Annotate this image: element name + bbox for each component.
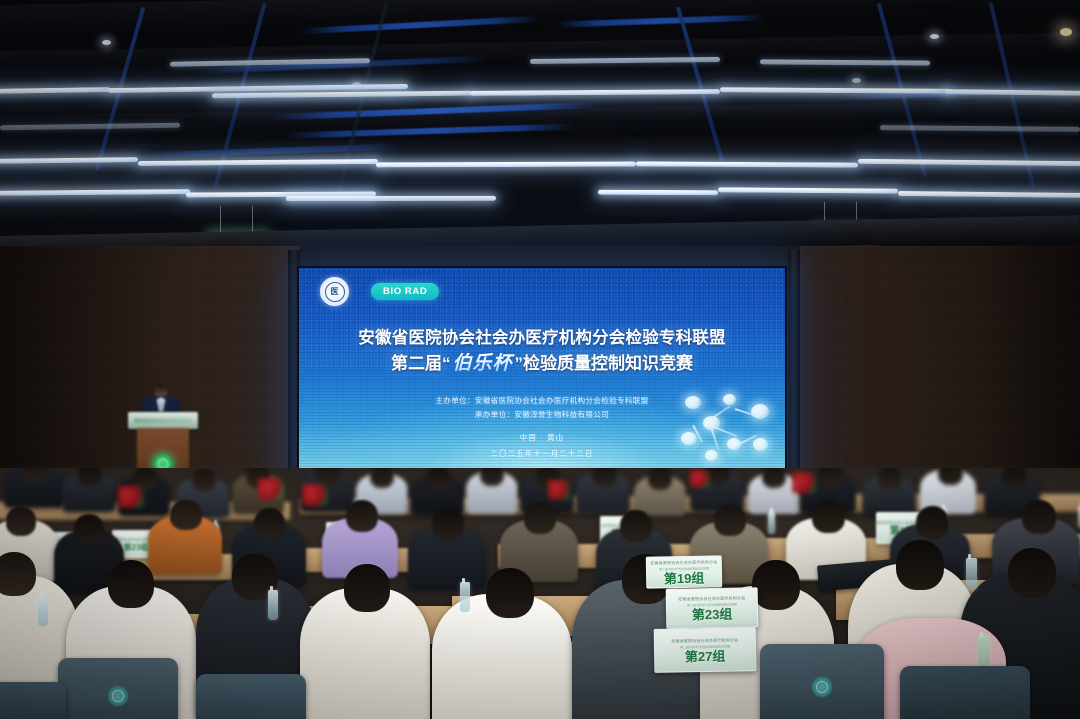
bio-rad-logo: BIO RAD	[371, 283, 439, 300]
audience-person-head	[818, 468, 843, 487]
ceiling-spotlight	[930, 34, 939, 39]
ceiling-led-strip	[720, 87, 950, 94]
screen-logo-row: 医 BIO RAD	[320, 277, 439, 306]
audience-person-head	[592, 468, 617, 487]
ceiling-led-strip	[376, 162, 636, 168]
audience-person-head	[0, 552, 36, 596]
audience-chair	[0, 682, 66, 719]
water-bottle	[966, 558, 977, 590]
screen-title-suffix: 检验质量控制知识竞赛	[523, 354, 693, 373]
audience-person-head	[192, 468, 216, 492]
ceiling-spotlight	[352, 82, 361, 87]
sign-number-text: 第23组	[124, 544, 149, 552]
audience-person-head	[752, 560, 800, 610]
water-bottle	[978, 636, 990, 670]
audience-person-head	[344, 564, 390, 612]
water-bottle	[460, 582, 470, 612]
flower-arrangement	[548, 480, 570, 500]
audience-person-head	[1008, 548, 1056, 598]
ceiling-slab	[0, 0, 1080, 40]
flower-arrangement	[690, 470, 710, 488]
ceiling-led-strip	[858, 159, 1080, 166]
chair-emblem-icon	[107, 685, 129, 707]
audience-area: 安徽省医院协会社会办医疗机构分会 第19组 安徽省医院协会社会办医疗机构分会 第…	[0, 468, 1080, 719]
audience-person-head	[1022, 500, 1056, 534]
ceiling-led-strip	[718, 187, 898, 193]
flower-arrangement	[302, 484, 328, 506]
led-presentation-screen: 医 BIO RAD 安徽省医院协会社会办医疗机构分会检验专科联盟 第二届“伯乐杯…	[297, 266, 787, 490]
molecule-node	[751, 404, 769, 419]
chair-emblem-icon	[811, 676, 833, 698]
flower-arrangement	[792, 472, 816, 494]
audience-person-head	[896, 540, 944, 590]
ceiling: ⇦ 出口 出口 ⇨	[0, 0, 1080, 262]
podium-top-band	[134, 418, 192, 423]
sign-number-text: 第23组	[692, 607, 733, 621]
table-number-sign: 安徽省医院协会社会办医疗机构分会 第二届“伯乐杯”检验质量控制知识竞赛 第23组	[666, 587, 759, 629]
audience-chair	[196, 674, 306, 719]
audience-chair	[760, 644, 884, 719]
audience-person-head	[254, 508, 285, 538]
molecule-node	[753, 438, 768, 451]
audience-person-head	[916, 506, 949, 539]
ceiling-led-strip	[760, 59, 930, 65]
ceiling-led-strip	[470, 89, 720, 96]
association-emblem-label: 医	[325, 282, 345, 302]
ceiling-led-strip	[0, 87, 110, 94]
ceiling-spotlight	[1060, 28, 1072, 36]
audience-chair	[58, 658, 178, 719]
sign-header-text: 安徽省医院协会社会办医疗机构分会	[650, 559, 717, 566]
screen-title-line-2: 第二届“伯乐杯”检验质量控制知识竞赛	[299, 348, 785, 375]
audience-person-head	[370, 468, 394, 488]
molecule-graphic-icon	[679, 386, 775, 472]
water-bottle	[268, 590, 278, 620]
audience-person-head	[108, 560, 154, 608]
screen-title-quote-close: ”	[515, 354, 524, 373]
ceiling-led-strip	[598, 190, 718, 195]
table-number-sign: 安徽省医院协会社会办医疗机构分会 第二届“伯乐杯”检验质量控制知识竞赛 第27组	[654, 627, 757, 673]
association-emblem-icon: 医	[320, 277, 349, 306]
molecule-node	[703, 416, 720, 430]
sign-header-text: 安徽省医院协会社会办医疗机构分会	[678, 595, 745, 602]
ceiling-truss	[676, 7, 724, 162]
table-number-sign: 安徽省医院协会社会办医疗机构分会 第二届“伯乐杯”检验质量控制知识竞赛 第19组	[646, 555, 723, 588]
ceiling-led-strip	[138, 159, 378, 166]
molecule-bond	[710, 427, 719, 450]
screen-title-cup-name: 伯乐杯	[450, 353, 514, 374]
audience-person-head	[938, 468, 963, 485]
ceiling-slab	[0, 31, 1080, 78]
ceiling-led-strip	[0, 189, 190, 196]
ceiling-spotlight	[102, 40, 111, 45]
molecule-node	[705, 450, 718, 461]
ceiling-led-strip	[286, 196, 496, 201]
ceiling-led-strip	[636, 161, 858, 167]
sign-number-text: 第19组	[664, 571, 705, 585]
audience-person-head	[170, 500, 202, 530]
ceiling-led-strip	[212, 91, 472, 99]
wall-pillar	[788, 250, 800, 500]
audience-person-head	[346, 500, 378, 532]
audience-person-head	[620, 510, 652, 542]
audience-person-head	[1002, 468, 1027, 489]
audience-person-head	[762, 468, 786, 488]
audience-person-head	[524, 502, 556, 534]
ceiling-led-strip	[0, 157, 138, 164]
audience-person-head	[6, 506, 36, 536]
sign-number-text: 第27组	[685, 649, 726, 663]
water-bottle	[768, 512, 775, 534]
molecule-node	[681, 432, 697, 445]
exit-sign-wire	[220, 206, 221, 232]
audience-person-head	[316, 468, 341, 485]
audience-person-head	[480, 468, 504, 486]
molecule-node	[685, 396, 701, 409]
audience-person-head	[78, 468, 102, 486]
molecule-node	[727, 438, 741, 450]
flower-arrangement	[118, 486, 144, 508]
audience-person-head	[432, 508, 464, 540]
molecule-node	[723, 394, 736, 405]
audience-person-head	[426, 468, 450, 490]
screen-title-line-1: 安徽省医院协会社会办医疗机构分会检验专科联盟	[299, 324, 785, 348]
ceiling-blue-beam	[140, 143, 400, 158]
ceiling-spotlight	[852, 78, 861, 83]
sign-header-text: 安徽省医院协会社会办医疗机构分会	[671, 637, 738, 644]
audience-person-head	[878, 468, 902, 490]
exit-sign-wire	[252, 206, 253, 232]
flower-arrangement	[258, 478, 284, 500]
audience-chair	[900, 666, 1030, 719]
audience-person-head	[812, 500, 845, 533]
water-bottle	[38, 596, 48, 626]
podium-top-panel	[128, 412, 198, 429]
ceiling-led-strip	[898, 191, 1080, 198]
audience-person-head	[486, 568, 534, 618]
screen-content: 医 BIO RAD 安徽省医院协会社会办医疗机构分会检验专科联盟 第二届“伯乐杯…	[299, 268, 785, 488]
audience-person-head	[714, 504, 746, 536]
audience-person-head	[74, 514, 104, 544]
screen-title-prefix: 第二届	[391, 354, 442, 373]
audience-person-head	[648, 468, 672, 490]
conference-hall-photo: ⇦ 出口 出口 ⇨ 医 BIO RAD 安徽省医院协会社会办医疗机构分会检验专科…	[0, 0, 1080, 719]
